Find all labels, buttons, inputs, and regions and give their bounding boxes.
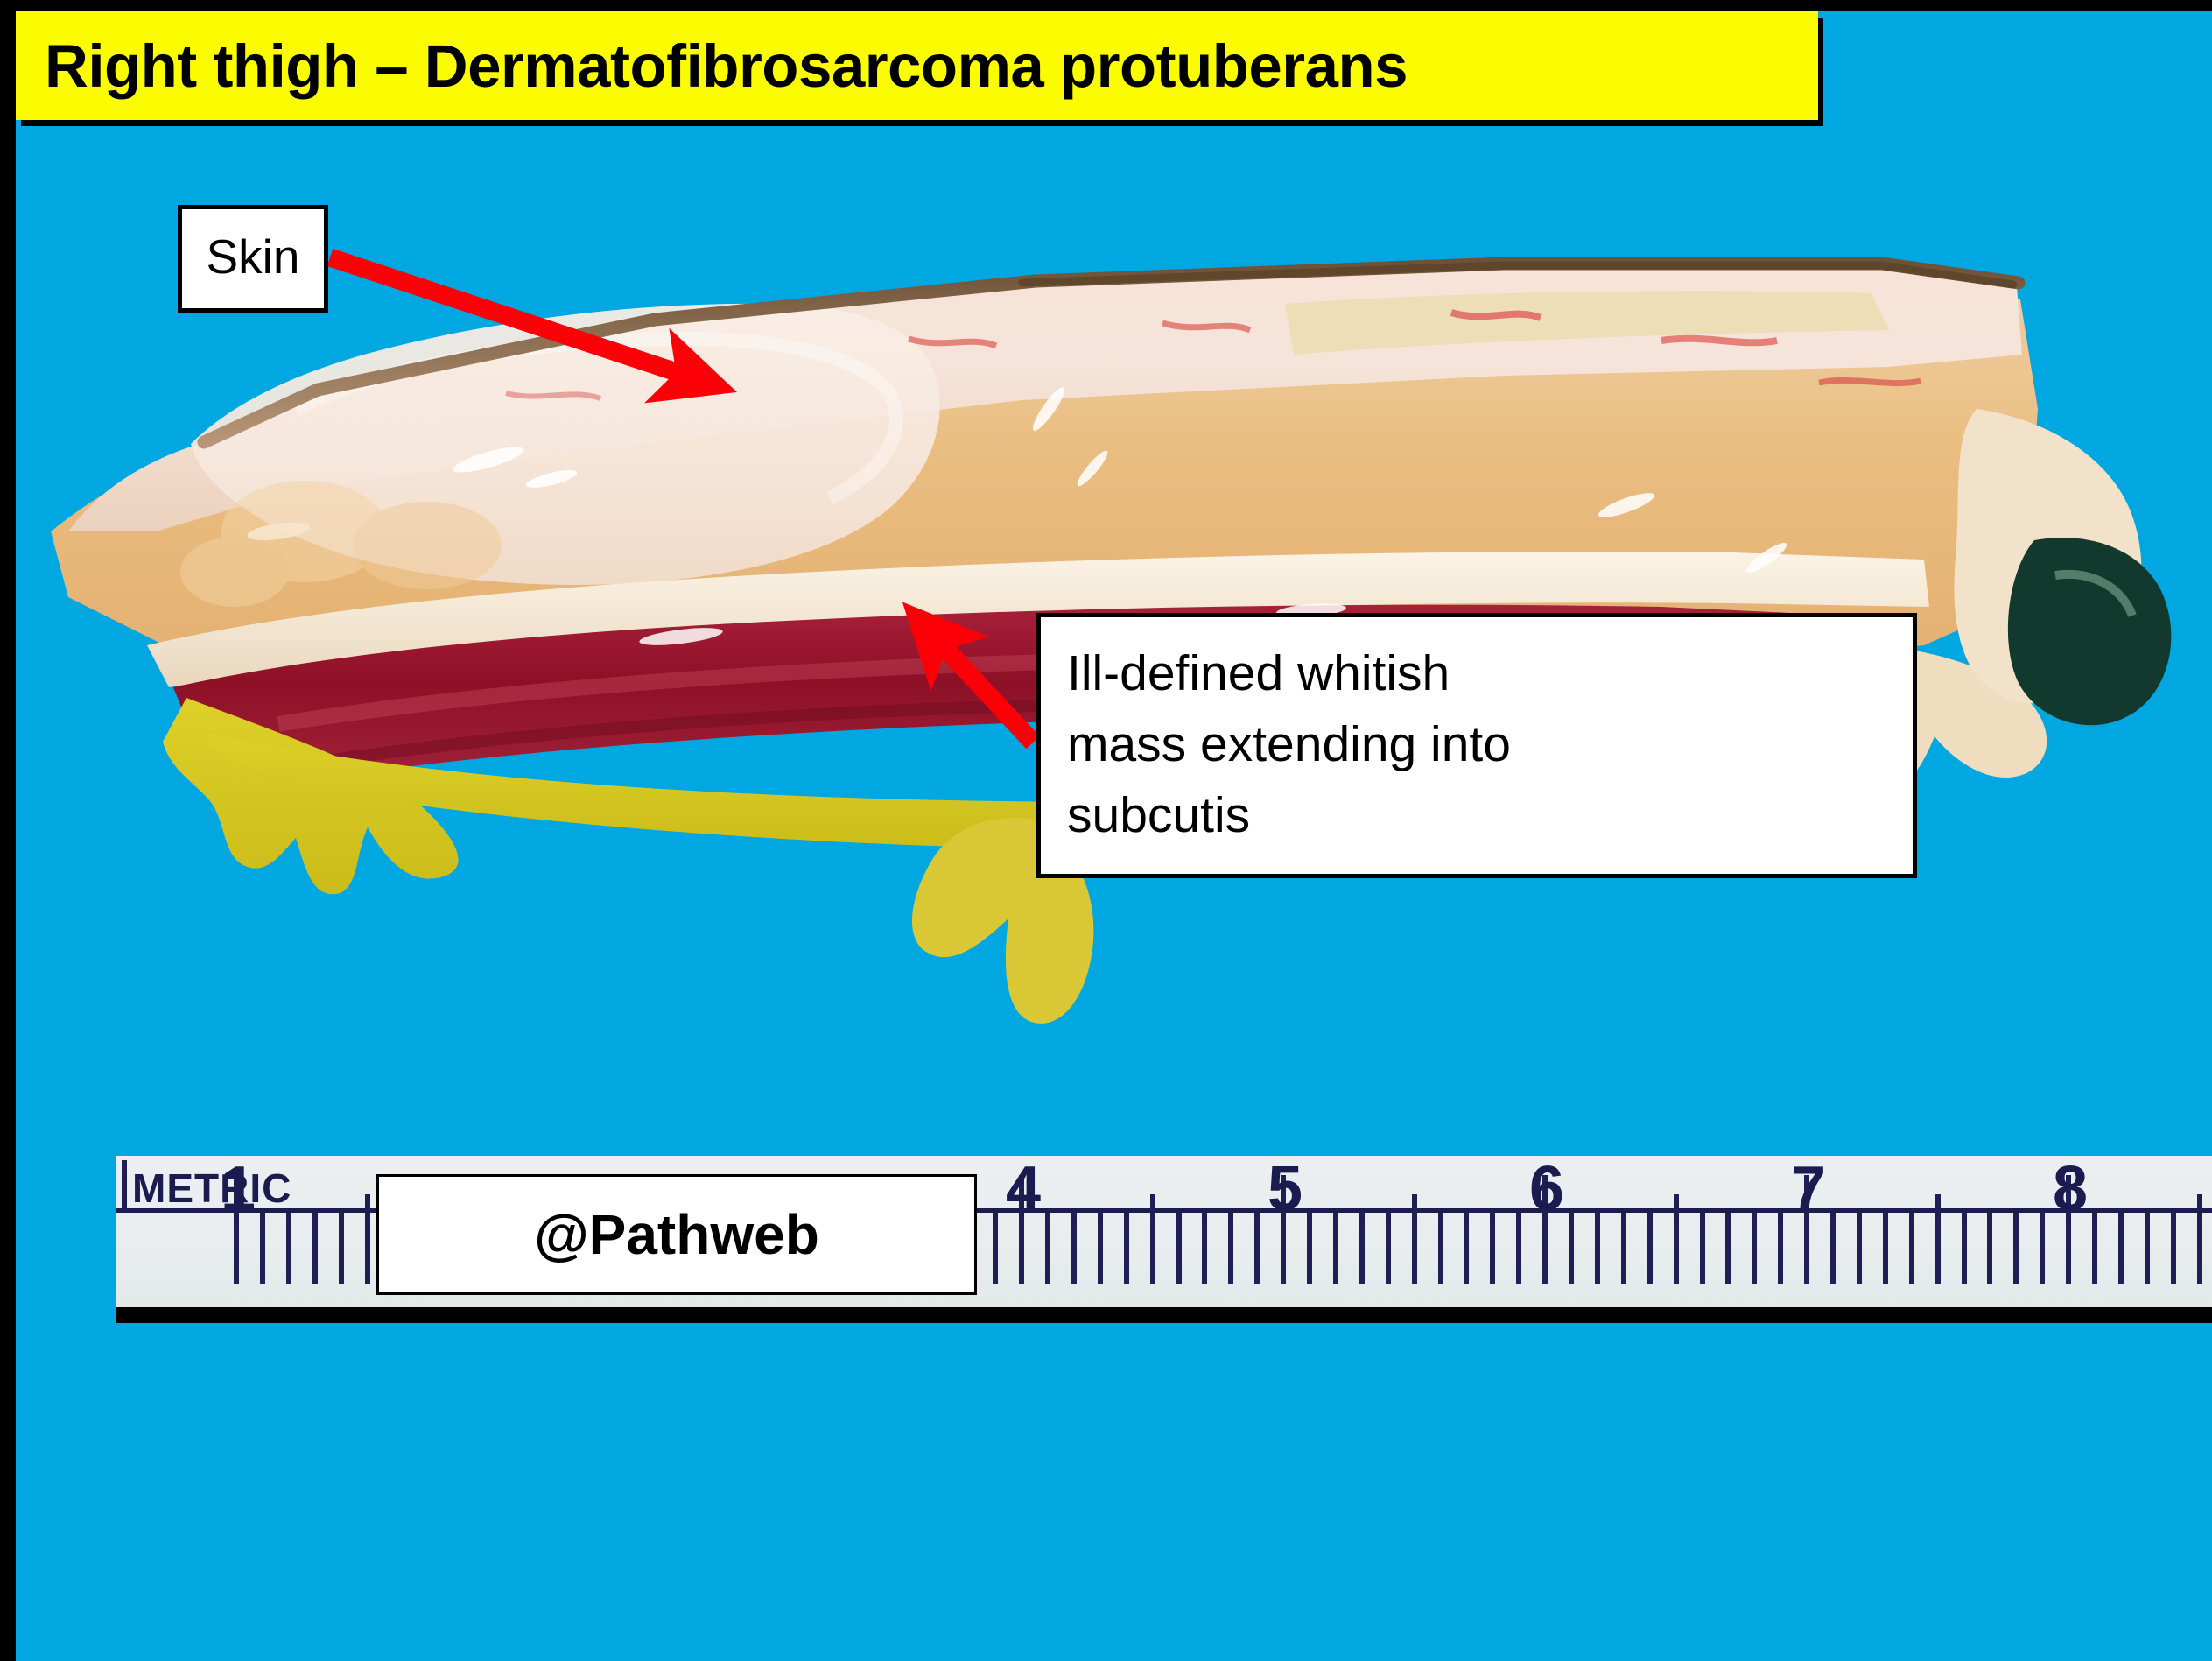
ruler-mm-tick <box>1202 1213 1207 1284</box>
slide-canvas: Right thigh – Dermatofibrosarcoma protub… <box>0 0 2212 1661</box>
ruler-mm-tick <box>1752 1213 1757 1284</box>
ruler-mm-tick <box>1725 1213 1731 1284</box>
ruler-number: 8 <box>2053 1158 2088 1221</box>
watermark-label: @Pathweb <box>534 1202 819 1267</box>
ruler-mm-tick <box>1490 1213 1495 1284</box>
ruler-mm-tick <box>286 1213 291 1284</box>
ruler-number: 6 <box>1529 1158 1564 1221</box>
ruler-mm-tick <box>365 1194 370 1284</box>
ruler-mm-tick <box>1176 1213 1182 1284</box>
ruler-mm-tick <box>1857 1213 1862 1284</box>
pathweb-watermark: @Pathweb <box>376 1174 977 1295</box>
ruler-mm-tick <box>1307 1213 1312 1284</box>
callout-mass-line1: Ill-defined whitish <box>1067 638 1913 709</box>
callout-mass-line3: subcutis <box>1067 780 1913 851</box>
ruler-mm-tick <box>2040 1213 2045 1284</box>
callout-mass: Ill-defined whitish mass extending into … <box>1036 613 1917 878</box>
ruler-number: 4 <box>1006 1158 1041 1221</box>
ruler-mm-tick <box>2092 1213 2097 1284</box>
ruler-mm-tick <box>1595 1213 1600 1284</box>
inked-lateral-margin <box>2008 538 2171 725</box>
ruler-mm-tick <box>1621 1213 1626 1284</box>
ruler-mm-tick <box>1883 1213 1888 1284</box>
ruler-mm-tick <box>312 1213 318 1284</box>
ruler-mm-tick <box>1464 1213 1469 1284</box>
slide-top-border <box>0 0 2212 11</box>
ruler-mm-tick <box>260 1213 265 1284</box>
ruler-unit-label: METRIC <box>132 1165 291 1212</box>
ruler-mm-tick <box>1674 1194 1679 1284</box>
ruler-mm-tick <box>1962 1213 1967 1284</box>
ruler-mm-tick <box>2197 1194 2202 1284</box>
ruler-mm-tick <box>1647 1213 1653 1284</box>
ruler-mm-tick <box>993 1213 998 1284</box>
ruler-number: 7 <box>1791 1158 1826 1221</box>
ruler-mm-tick <box>2145 1213 2150 1284</box>
ruler-mm-tick <box>1700 1213 1705 1284</box>
ruler-mm-tick <box>1359 1213 1365 1284</box>
ruler-mm-tick <box>1516 1213 1521 1284</box>
ruler-mm-tick <box>2013 1213 2019 1284</box>
ruler-mm-tick <box>1150 1194 1155 1284</box>
ruler-mm-tick <box>1830 1213 1836 1284</box>
slide-title-banner: Right thigh – Dermatofibrosarcoma protub… <box>16 11 1818 120</box>
ruler-mm-tick <box>1909 1213 1914 1284</box>
ruler-mm-tick <box>1935 1194 1941 1284</box>
ruler-mm-tick <box>1045 1213 1050 1284</box>
ruler-mm-tick <box>1386 1213 1391 1284</box>
ruler-mm-tick <box>1124 1213 1129 1284</box>
ruler-mm-tick <box>1228 1213 1233 1284</box>
ruler-mm-tick <box>2118 1213 2124 1284</box>
callout-skin: Skin <box>178 205 328 313</box>
ruler-mm-tick <box>1569 1213 1574 1284</box>
ruler-mm-tick <box>1098 1213 1103 1284</box>
ruler-mm-tick <box>1438 1213 1443 1284</box>
ruler-start-mark <box>122 1160 127 1211</box>
ruler-mm-tick <box>2171 1213 2176 1284</box>
callout-skin-label: Skin <box>207 233 300 285</box>
ruler-mm-tick <box>1412 1194 1417 1284</box>
gross-specimen-photo <box>16 120 2212 1661</box>
ruler-mm-tick <box>1333 1213 1338 1284</box>
ruler-mm-tick <box>1987 1213 1992 1284</box>
ruler-number: 5 <box>1268 1158 1303 1221</box>
ruler-mm-tick <box>339 1213 344 1284</box>
ruler-mm-tick <box>1071 1213 1077 1284</box>
slide-left-border <box>0 0 16 1661</box>
callout-mass-line2: mass extending into <box>1067 709 1913 780</box>
ruler-mm-tick <box>1254 1213 1260 1284</box>
ruler-mm-tick <box>1778 1213 1783 1284</box>
ruler-bottom-band <box>116 1307 2212 1323</box>
ruler-number: 1 <box>221 1158 256 1221</box>
page-title: Right thigh – Dermatofibrosarcoma protub… <box>16 32 1408 101</box>
